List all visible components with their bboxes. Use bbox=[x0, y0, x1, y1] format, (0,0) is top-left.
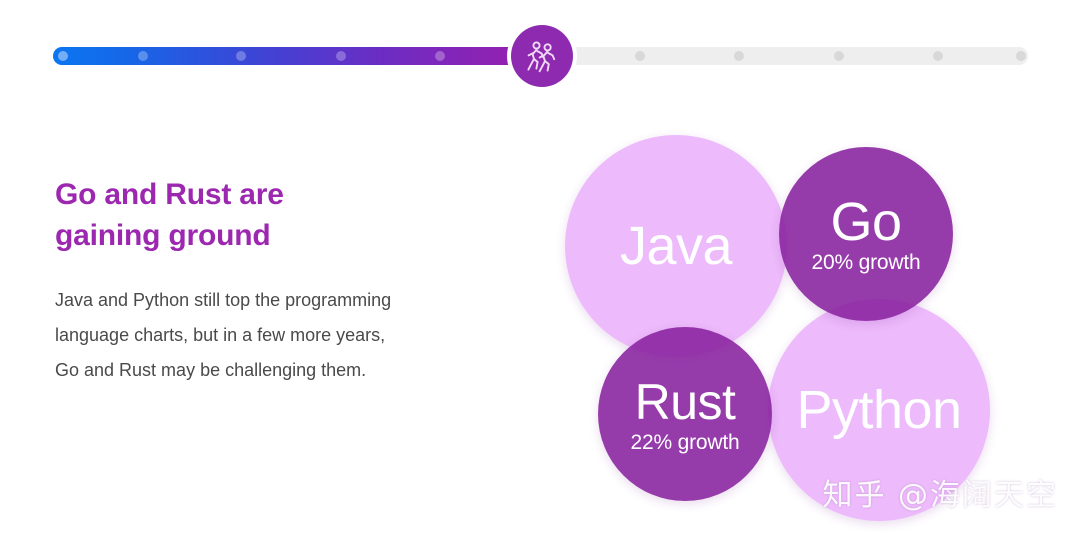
bubble-go[interactable]: Go 20% growth bbox=[779, 147, 953, 321]
bubble-java[interactable]: Java bbox=[565, 135, 787, 357]
progress-tick-4[interactable] bbox=[336, 51, 346, 61]
bubble-rust-label: Rust bbox=[635, 374, 736, 430]
progress-tick-5[interactable] bbox=[435, 51, 445, 61]
language-bubble-chart: Java Python Go 20% growth Rust 22% growt… bbox=[560, 125, 1020, 525]
two-runners-icon bbox=[522, 36, 562, 76]
bubble-rust-growth: 22% growth bbox=[631, 431, 740, 455]
page-title: Go and Rust are gaining ground bbox=[55, 174, 395, 256]
watermark: 知乎 @海阔天空 bbox=[822, 479, 1058, 513]
progress-tick-2[interactable] bbox=[138, 51, 148, 61]
bubble-go-label: Go bbox=[830, 194, 901, 250]
progress-fill bbox=[53, 47, 575, 65]
progress-thumb-handle[interactable] bbox=[511, 25, 573, 87]
bubble-java-label: Java bbox=[620, 218, 732, 274]
bubble-rust[interactable]: Rust 22% growth bbox=[598, 327, 772, 501]
bubble-go-growth: 20% growth bbox=[812, 251, 921, 275]
progress-tick-1[interactable] bbox=[58, 51, 68, 61]
bubble-python-label: Python bbox=[796, 382, 961, 438]
body-paragraph: Java and Python still top the programmin… bbox=[55, 283, 405, 388]
progress-tick-6[interactable] bbox=[635, 51, 645, 61]
progress-tick-8[interactable] bbox=[834, 51, 844, 61]
